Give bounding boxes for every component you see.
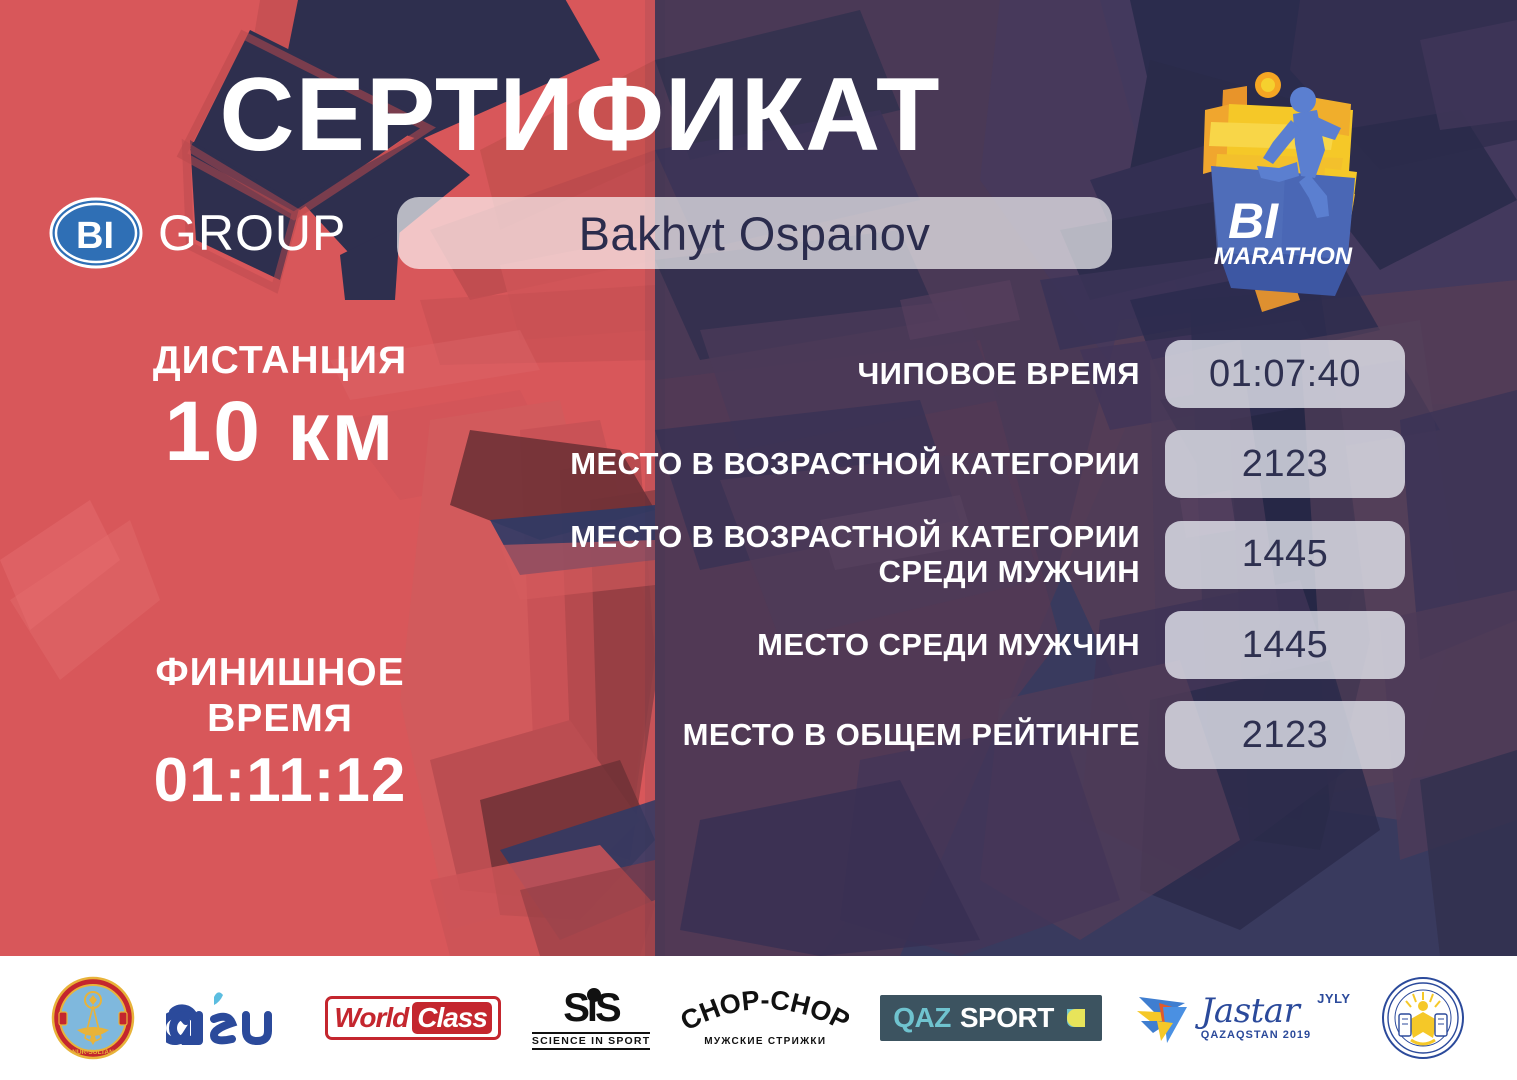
participant-name-field: Bakhyt Ospanov — [397, 197, 1112, 269]
finish-time-block: ФИНИШНОЕ ВРЕМЯ 01:11:12 — [0, 650, 560, 812]
jastar-bird-icon — [1133, 987, 1195, 1049]
marathon-sub-text: MARATHON — [1214, 243, 1353, 270]
chop-chop-logo-icon: CHOP-CHOP — [681, 990, 849, 1032]
sponsor-asu — [166, 987, 294, 1049]
bi-group-label: GROUP — [158, 204, 346, 262]
stat-label: ЧИПОВОЕ ВРЕМЯ — [560, 357, 1165, 392]
sponsor-strip: NUR-SULTAN World Class SiS S — [0, 956, 1517, 1080]
stat-label: МЕСТО СРЕДИ МУЖЧИН — [560, 628, 1165, 663]
jastar-name: Jastar — [1201, 995, 1300, 1027]
sponsor-qazsport: QAZ SPORT — [880, 995, 1102, 1041]
world-class-text-1: World — [334, 1002, 408, 1034]
stat-row: МЕСТО СРЕДИ МУЖЧИН 1445 — [560, 611, 1405, 679]
stat-value-pill: 2123 — [1165, 701, 1405, 769]
distance-value: 10 км — [0, 389, 560, 473]
stat-value: 2123 — [1242, 443, 1329, 486]
stat-label: МЕСТО В ВОЗРАСТНОЙ КАТЕГОРИИ СРЕДИ МУЖЧИ… — [560, 520, 1165, 589]
sponsor-sis: SiS SCIENCE IN SPORT — [532, 987, 650, 1050]
nur-sultan-emblem-icon: NUR-SULTAN — [51, 976, 135, 1060]
qazsport-text-2: SPORT — [960, 1002, 1054, 1034]
asu-logo-icon — [166, 987, 294, 1049]
stat-row: ЧИПОВОЕ ВРЕМЯ 01:07:40 — [560, 340, 1405, 408]
qazsport-text-1: QAZ — [893, 1002, 951, 1034]
svg-text:BI: BI — [76, 215, 114, 257]
sponsor-nur-sultan: NUR-SULTAN — [51, 976, 135, 1060]
stats-list: ЧИПОВОЕ ВРЕМЯ 01:07:40 МЕСТО В ВОЗРАСТНО… — [560, 340, 1405, 791]
marathon-bi-text: BI — [1228, 193, 1279, 249]
bi-group-logo-icon: BI — [48, 196, 144, 270]
chop-chop-tagline: МУЖСКИЕ СТРИЖКИ — [704, 1036, 826, 1047]
bi-group-brand: BI GROUP — [48, 196, 346, 270]
finish-time-label-line1: ФИНИШНОЕ — [0, 650, 560, 696]
stat-value: 1445 — [1242, 624, 1329, 667]
stat-value: 1445 — [1242, 533, 1329, 576]
jastar-jyly-sup: JYLY — [1317, 991, 1350, 1006]
sis-logo-icon: SiS — [536, 987, 646, 1029]
stat-row: МЕСТО В ВОЗРАСТНОЙ КАТЕГОРИИ 2123 — [560, 430, 1405, 498]
stat-value: 01:07:40 — [1209, 353, 1361, 396]
stat-value-pill: 1445 — [1165, 611, 1405, 679]
sis-tagline: SCIENCE IN SPORT — [532, 1032, 650, 1050]
stat-value: 2123 — [1242, 714, 1329, 757]
qazsport-mark-icon — [1063, 1005, 1089, 1031]
stat-row: МЕСТО В ВОЗРАСТНОЙ КАТЕГОРИИ СРЕДИ МУЖЧИ… — [560, 520, 1405, 589]
finish-time-label-line2: ВРЕМЯ — [0, 696, 560, 742]
stat-value-pill: 01:07:40 — [1165, 340, 1405, 408]
sponsor-chop-chop: CHOP-CHOP МУЖСКИЕ СТРИЖКИ — [681, 990, 849, 1047]
svg-text:CHOP-CHOP: CHOP-CHOP — [681, 990, 849, 1032]
stat-value-pill: 1445 — [1165, 521, 1405, 589]
sponsor-jastar-jyly: Jastar QAZAQSTAN 2019 JYLY — [1133, 987, 1351, 1049]
sponsor-world-class: World Class — [325, 996, 501, 1040]
stat-label: МЕСТО В ВОЗРАСТНОЙ КАТЕГОРИИ — [560, 447, 1165, 482]
participant-name-value: Bakhyt Ospanov — [579, 206, 931, 261]
distance-block: ДИСТАНЦИЯ 10 км — [0, 340, 560, 473]
jastar-tagline: QAZAQSTAN 2019 — [1201, 1029, 1311, 1041]
page-title: СЕРТИФИКАТ — [0, 62, 1160, 168]
stat-label: МЕСТО В ОБЩЕМ РЕЙТИНГЕ — [560, 718, 1165, 753]
certificate: СЕРТИФИКАТ BI GROUP Bakhyt Ospanov — [0, 0, 1517, 1080]
distance-label: ДИСТАНЦИЯ — [0, 340, 560, 383]
stat-value-pill: 2123 — [1165, 430, 1405, 498]
svg-text:NUR-SULTAN: NUR-SULTAN — [73, 1049, 115, 1056]
sponsor-ministry — [1381, 976, 1465, 1060]
world-class-text-2: Class — [412, 1002, 492, 1034]
stat-row: МЕСТО В ОБЩЕМ РЕЙТИНГЕ 2123 — [560, 701, 1405, 769]
finish-time-value: 01:11:12 — [0, 750, 560, 812]
bi-marathon-logo: BI MARATHON — [1175, 58, 1385, 308]
ministry-emblem-icon — [1381, 976, 1465, 1060]
